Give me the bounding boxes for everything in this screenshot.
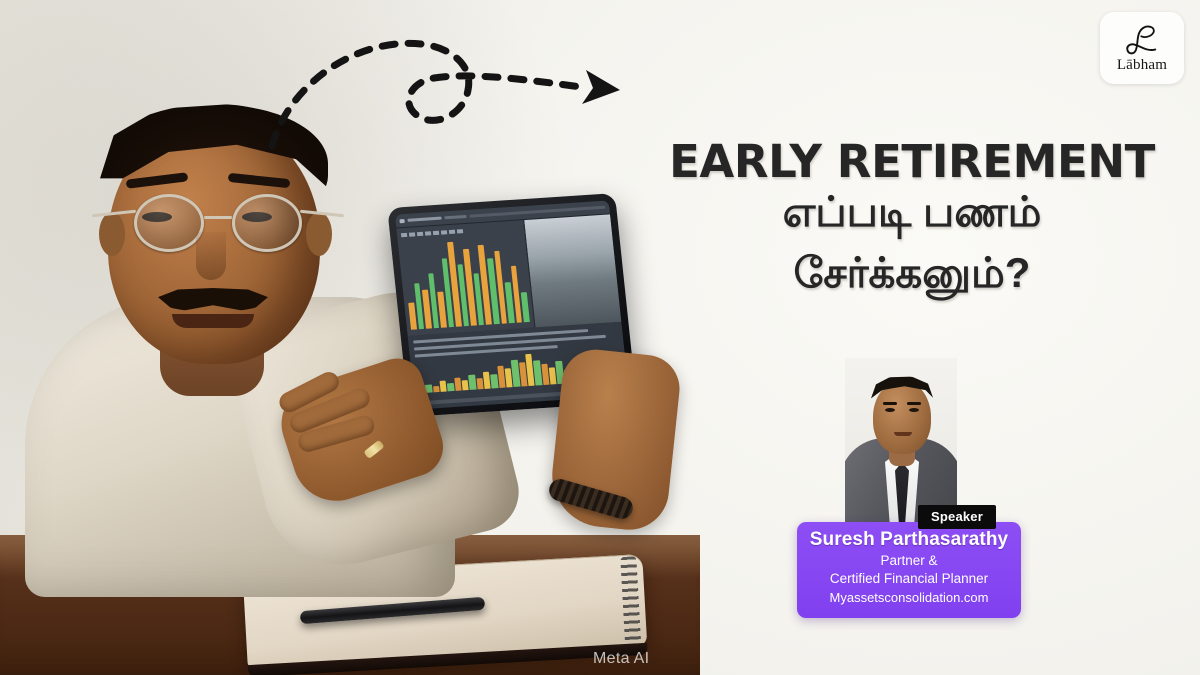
toolbar-icon [409,232,415,236]
glasses-bridge [204,216,232,219]
topbar-title-line [407,217,441,222]
upper-bars-group [402,233,530,331]
speaker-info-card: Suresh Parthasarathy Partner & Certified… [797,522,1021,618]
glasses-temple-right [300,210,344,218]
mini-chart-bar [468,374,476,390]
lens-right [232,194,302,252]
toolbar-icon [433,231,439,235]
speaker-eye-left [885,408,895,412]
dashboard-upper [396,214,621,336]
mini-chart-bar [454,378,462,391]
chart-bar [408,303,416,330]
toolbar-icon [449,230,455,234]
toolbar-icon [425,231,431,235]
notebook-spiral-icon [620,556,641,645]
dashed-looping-arrow-icon [268,28,648,158]
person-nose [196,232,226,280]
brand-name: Lābham [1117,58,1167,73]
speaker-head [873,380,931,454]
mini-chart-bar [447,383,454,392]
toolbar-icon [417,232,423,236]
mini-chart-bar [490,374,498,389]
landscape-photo-icon [523,214,621,327]
speaker-role-line-2: Certified Financial Planner [807,570,1011,588]
tablet-bar-chart [396,220,534,336]
speaker-role-line-1: Partner & [807,552,1011,570]
meta-ai-watermark: Meta AI [593,650,649,668]
speaker-badge: Speaker [918,505,996,529]
script-l-monogram-icon [1120,23,1164,57]
speaker-eye-right [909,408,919,412]
headline-line-tamil-2: சேர்க்கனும்? [636,246,1188,301]
toolbar-icon [441,230,447,234]
headline-line-tamil-1: எப்படி பணம் [636,185,1188,240]
speaker-name: Suresh Parthasarathy [807,529,1011,552]
topbar-sub-line [444,215,466,219]
lens-left [134,194,204,252]
speaker-eyebrow-right [907,402,921,405]
person-mouth [172,314,254,328]
glasses-temple-left [92,210,136,218]
poster-canvas: Meta AI EARLY RETIREMENT எப்படி பணம் சேர… [0,0,1200,675]
mini-chart-bar [462,380,469,390]
chart-bar [521,292,530,322]
speaker-portrait-icon [845,358,957,524]
ring-icon [363,440,384,459]
topbar-icon [399,219,404,223]
toolbar-icon [401,233,407,237]
speaker-eyebrow-left [883,402,897,405]
headline-line-english: EARLY RETIREMENT [636,138,1188,185]
speaker-website[interactable]: Myassetsconsolidation.com [807,589,1011,607]
speaker-mouth [894,432,912,436]
brand-logo[interactable]: Lābham [1100,12,1184,84]
mini-chart-bar [433,386,440,392]
headline-block: EARLY RETIREMENT எப்படி பணம் சேர்க்கனும்… [636,138,1188,300]
mini-chart-bar [476,378,484,390]
mini-chart-bar [440,381,447,392]
toolbar-icon [457,229,463,233]
